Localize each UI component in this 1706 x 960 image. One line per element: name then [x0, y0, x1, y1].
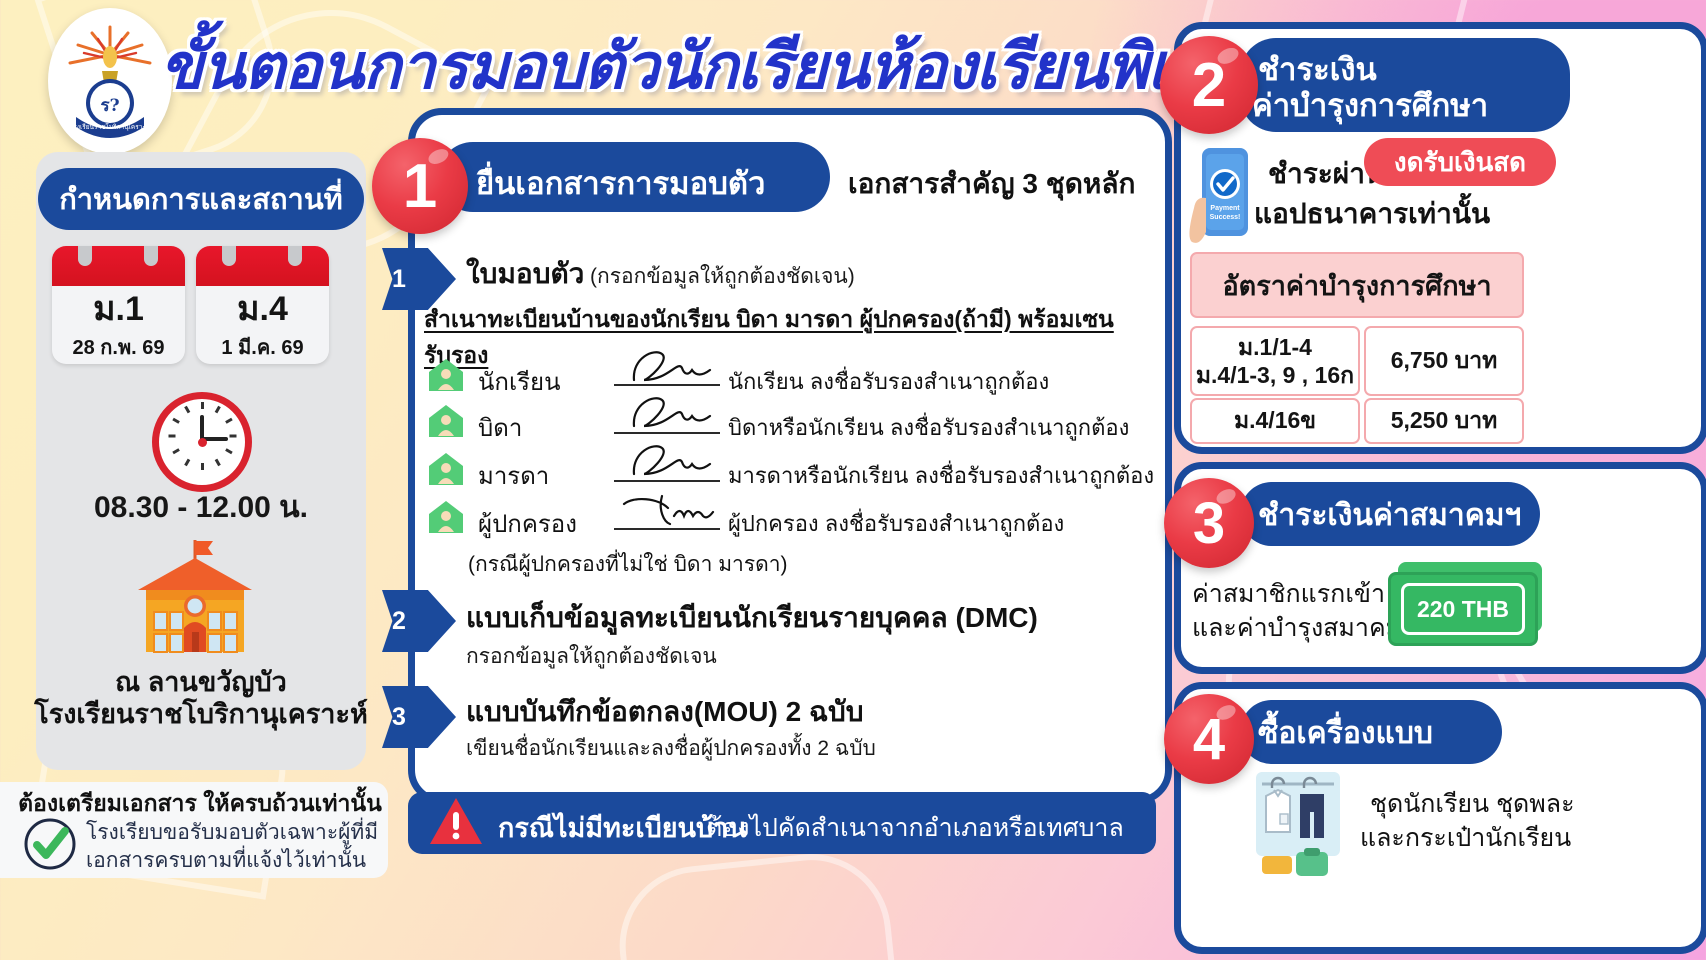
signature-desc: นักเรียน ลงชื่อรับรองสำเนาถูกต้อง: [728, 364, 1049, 399]
signature-desc: บิดาหรือนักเรียน ลงชื่อรับรองสำเนาถูกต้อ…: [728, 410, 1129, 445]
signature-role: ผู้ปกครอง: [478, 504, 577, 543]
svg-text:ร?: ร?: [100, 96, 119, 116]
check-circle-icon: [22, 816, 78, 872]
fee-row-1-classes-line-1: ม.1/1-4: [1238, 333, 1312, 361]
step3-badge: 3: [1164, 478, 1254, 568]
schedule-time: 08.30 - 12.00 น.: [36, 484, 366, 531]
fee-row-2-amount: 5,250 บาท: [1364, 398, 1524, 444]
signature-mark-icon: [618, 494, 718, 530]
signature-mark-icon: [622, 348, 718, 386]
fee-table-header: อัตราค่าบำรุงการศึกษา: [1190, 252, 1524, 318]
step4-title: ซื้อเครื่องแบบ: [1258, 710, 1433, 757]
mobile-payment-icon: Payment Success!: [1188, 146, 1260, 256]
step3-title: ชำระเงินค่าสมาคมฯ: [1258, 492, 1521, 539]
step1-item-2-title: แบบเก็บข้อมูลทะเบียนนักเรียนรายบุคคล (DM…: [466, 596, 1038, 640]
signature-role: มารดา: [478, 456, 549, 495]
step1-item-1-sub: (กรอกข้อมูลให้ถูกต้องชัดเจน): [590, 260, 855, 293]
step4-badge: 4: [1164, 694, 1254, 784]
schedule-pill-label: กำหนดการและสถานที่: [38, 168, 364, 230]
signature-role: บิดา: [478, 408, 522, 447]
step1-item-3-sub: เขียนชื่อนักเรียนและลงชื่อผู้ปกครองทั้ง …: [466, 732, 876, 765]
step1-title: ยื่นเอกสารการมอบตัว: [476, 158, 765, 208]
clock-icon: [152, 392, 252, 492]
calendar-grade: ม.4: [196, 292, 329, 326]
step1-subtitle: เอกสารสำคัญ 3 ชุดหลัก: [848, 162, 1135, 206]
step2-title-line-2: ค่าบำรุงการศึกษา: [1252, 80, 1488, 130]
calendar-m4: ม.4 1 มี.ค. 69: [196, 246, 329, 364]
signature-role: นักเรียน: [478, 362, 561, 401]
fee-row-2-classes: ม.4/16ข: [1190, 398, 1360, 444]
calendar-date: 1 มี.ค. 69: [196, 331, 329, 363]
house-person-icon: [428, 500, 464, 534]
signature-desc: ผู้ปกครอง ลงชื่อรับรองสำเนาถูกต้อง: [728, 506, 1064, 541]
school-building-icon: [120, 536, 270, 664]
svg-text:Payment: Payment: [1210, 205, 1240, 212]
fee-row-1-amount: 6,750 บาท: [1364, 326, 1524, 396]
calendar-grade: ม.1: [52, 292, 185, 326]
fee-row-1-classes: ม.1/1-4 ม.4/1-3, 9 , 16ก: [1190, 326, 1360, 396]
house-person-icon: [428, 404, 464, 438]
step1-item-3-title: แบบบันทึกข้อตกลง(MOU) 2 ฉบับ: [466, 690, 864, 734]
no-cash-badge: งดรับเงินสด: [1364, 138, 1556, 186]
svg-text:โรงเรียนราชโบริกานุเคราะห์: โรงเรียนราชโบริกานุเคราะห์: [70, 123, 150, 131]
step2-badge: 2: [1160, 36, 1258, 134]
calendar-date: 28 ก.พ. 69: [52, 331, 185, 363]
house-person-icon: [428, 358, 464, 392]
svg-text:Success!: Success!: [1210, 214, 1241, 221]
step3-line-2: และค่าบำรุงสมาคม: [1192, 608, 1402, 648]
step4-line-2: และกระเป๋านักเรียน: [1360, 818, 1571, 858]
page-title: ขั้นตอนการมอบตัวนักเรียนห้องเรียนพิเศษ: [160, 20, 1170, 115]
step1-badge: 1: [372, 138, 468, 234]
banknote-icon: 220 THB: [1388, 562, 1542, 640]
step3-amount: 220 THB: [1401, 583, 1525, 635]
step1-item-2-sub: กรอกข้อมูลให้ถูกต้องชัดเจน: [466, 640, 717, 673]
uniform-hanger-icon: [1248, 768, 1358, 878]
calendar-m1: ม.1 28 ก.พ. 69: [52, 246, 185, 364]
fee-row-1-classes-line-2: ม.4/1-3, 9 , 16ก: [1196, 361, 1354, 389]
signature-mark-icon: [622, 394, 718, 432]
guardian-note: (กรณีผู้ปกครองที่ไม่ใช่ บิดา มารดา): [468, 548, 788, 581]
step1-item-1-title: ใบมอบตัว: [466, 252, 584, 296]
house-person-icon: [428, 452, 464, 486]
signature-desc: มารดาหรือนักเรียน ลงชื่อรับรองสำเนาถูกต้…: [728, 458, 1154, 493]
signature-mark-icon: [622, 442, 718, 480]
documents-note-line-2: เอกสารครบตามที่แจ้งไว้เท่านั้น: [86, 844, 366, 877]
step2-pay-line-2: แอปธนาคารเท่านั้น: [1254, 192, 1490, 236]
school-emblem-icon: ร? โรงเรียนราชโบริกานุเคราะห์: [48, 8, 172, 154]
location-line-2: โรงเรียนราชโบริกานุเคราะห์: [26, 692, 376, 735]
warning-triangle-icon: [428, 796, 484, 848]
warning-rest-text: ต้องไปคัดสำเนาจากอำเภอหรือเทศบาล: [706, 808, 1124, 848]
